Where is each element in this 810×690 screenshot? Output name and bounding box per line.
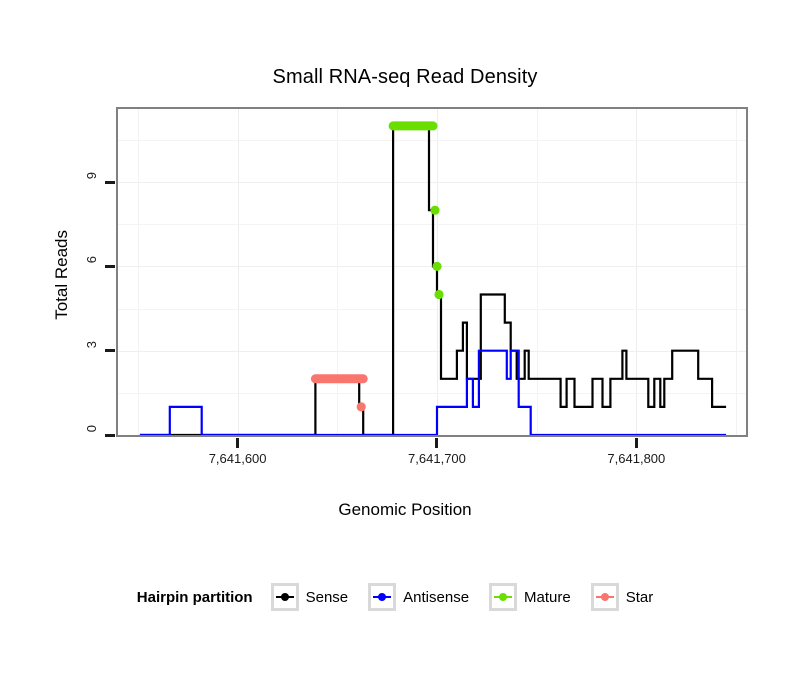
x-tick-label: 7,641,600 [178, 451, 298, 466]
y-tick-label: 0 [84, 425, 99, 432]
annotation-point-mature [430, 206, 439, 215]
legend-title: Hairpin partition [137, 589, 253, 606]
legend-key-dot [281, 593, 289, 601]
legend-item-antisense[interactable]: Antisense [368, 583, 485, 611]
y-tick-mark [105, 434, 115, 437]
legend-key-icon [271, 583, 299, 611]
x-tick-mark [236, 438, 239, 448]
annotation-point-mature [432, 262, 441, 271]
y-tick-mark [105, 265, 115, 268]
legend-key-icon [489, 583, 517, 611]
series-line-sense [140, 126, 726, 435]
legend-key-dot [499, 593, 507, 601]
y-tick-label: 6 [84, 256, 99, 263]
legend-key-dot [601, 593, 609, 601]
panel-clip [118, 109, 746, 435]
legend-label: Sense [306, 589, 349, 606]
x-tick-mark [435, 438, 438, 448]
y-tick-mark [105, 181, 115, 184]
x-axis-title: Genomic Position [0, 500, 810, 520]
x-tick-mark [635, 438, 638, 448]
annotation-point-star [357, 402, 366, 411]
legend-items: SenseAntisenseMatureStar [271, 583, 674, 611]
legend-label: Mature [524, 589, 571, 606]
legend-item-mature[interactable]: Mature [489, 583, 587, 611]
legend-key-dot [378, 593, 386, 601]
chart-root: Small RNA-seq Read Density 0369 Total Re… [0, 0, 810, 690]
chart-title: Small RNA-seq Read Density [0, 66, 810, 89]
legend-item-sense[interactable]: Sense [271, 583, 365, 611]
annotation-point-mature [434, 290, 443, 299]
x-tick-label: 7,641,800 [576, 451, 696, 466]
legend-key-icon [368, 583, 396, 611]
legend-label: Antisense [403, 589, 469, 606]
y-tick-mark [105, 349, 115, 352]
plot-panel [116, 107, 748, 437]
y-tick-label: 3 [84, 341, 99, 348]
series-line-antisense [140, 351, 726, 435]
legend: Hairpin partition SenseAntisenseMatureSt… [0, 583, 810, 611]
legend-item-star[interactable]: Star [591, 583, 670, 611]
y-axis-title: Total Reads [52, 230, 72, 320]
x-tick-label: 7,641,700 [377, 451, 497, 466]
legend-key-icon [591, 583, 619, 611]
y-tick-label: 9 [84, 172, 99, 179]
legend-label: Star [626, 589, 654, 606]
series-layer [118, 109, 746, 435]
